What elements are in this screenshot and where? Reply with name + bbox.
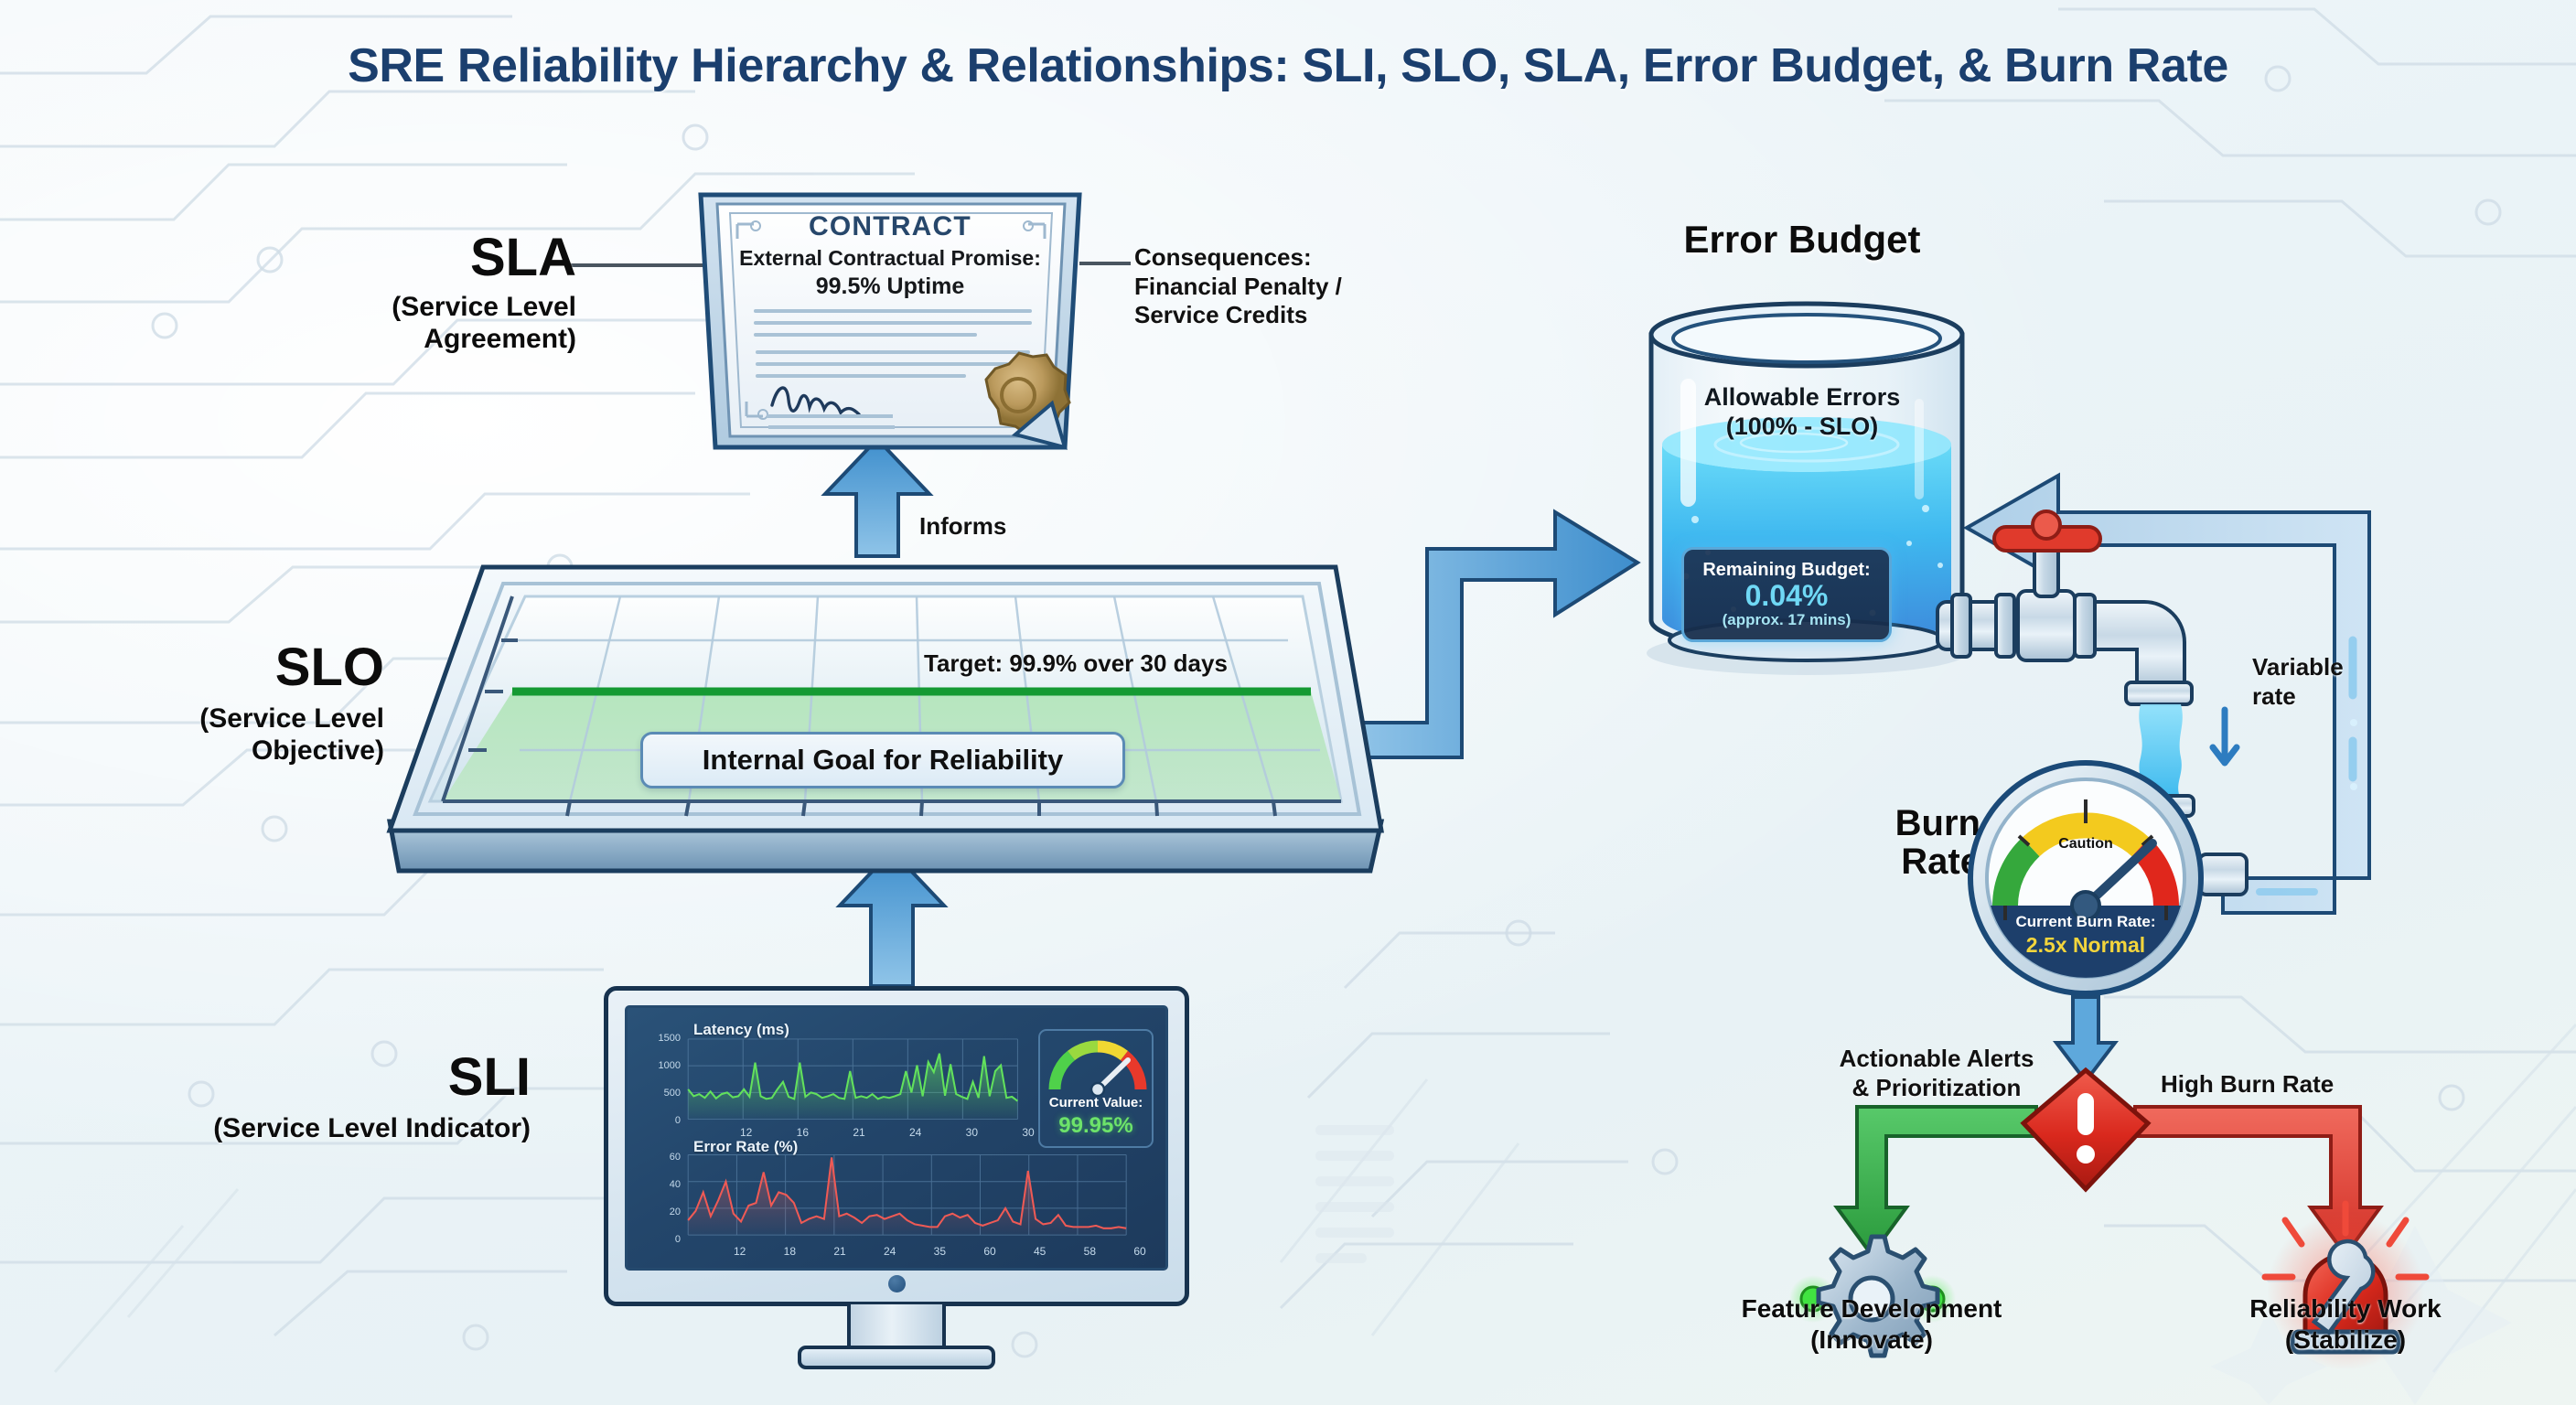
actionable-alerts-label: Actionable Alerts & Prioritization (1813, 1045, 2060, 1102)
monitor-neck (847, 1304, 946, 1350)
consequences-line3: Service Credits (1134, 301, 1409, 330)
x-tick: 18 (769, 1245, 810, 1258)
diagram-canvas: SRE Reliability Hierarchy & Relationship… (0, 0, 2576, 1405)
slo-expansion-line1: (Service Level (110, 702, 384, 735)
arrow-alert-to-feature-development (1837, 1107, 2036, 1255)
monitor-chin (608, 1265, 1185, 1302)
slo-goal-box: Internal Goal for Reliability (640, 732, 1125, 788)
x-tick: 24 (896, 1126, 936, 1139)
monitor-base (798, 1346, 995, 1369)
burn-rate-label: Burn Rate (1871, 805, 1980, 881)
slo-abbr: SLO (174, 640, 384, 694)
latency-chart-title: Latency (ms) (693, 1021, 789, 1039)
outcome-1-line2: (Stabilize) (2181, 1325, 2510, 1356)
slo-target-text: Target: 99.9% over 30 days (924, 649, 1228, 678)
variable-rate-line1: Variable (2252, 653, 2435, 682)
sla-abbr: SLA (421, 231, 576, 284)
x-tick: 30 (1008, 1126, 1048, 1139)
burn-rate-gauge: Caution Current Burn Rate: 2.5x Normal (1967, 759, 2205, 997)
y-tick: 0 (633, 1234, 681, 1245)
sli-monitor: Latency (ms) Error Rate (%) Current Valu… (604, 986, 1189, 1372)
slo-expansion: (Service Level Objective) (110, 702, 384, 767)
error-chart-title: Error Rate (%) (693, 1138, 798, 1156)
x-tick: 24 (870, 1245, 910, 1258)
actionable-alerts-line1: Actionable Alerts (1813, 1045, 2060, 1074)
x-tick: 21 (820, 1245, 860, 1258)
monitor-bezel: Latency (ms) Error Rate (%) Current Valu… (604, 986, 1189, 1306)
burn-rate-line2: Rate (1871, 843, 1980, 882)
arrow-burn-to-alert (2056, 997, 2115, 1081)
sla-expansion-line1: (Service Level (284, 291, 576, 323)
faucet-handle-icon (1994, 511, 2100, 551)
sla-label: SLA (421, 231, 576, 284)
contract-promise-value: 99.5% Uptime (704, 273, 1076, 300)
sli-expansion: (Service Level Indicator) (137, 1112, 531, 1144)
speedometer-icon (1040, 1036, 1155, 1100)
sli-gauge-caption: Current Value: (1040, 1095, 1152, 1110)
outcome-0-line2: (Innovate) (1698, 1325, 2045, 1356)
allowable-errors-line2: (100% - SLO) (1624, 412, 1980, 441)
sli-gauge-value: 99.95% (1040, 1113, 1152, 1139)
outcome-1-line1: Reliability Work (2181, 1293, 2510, 1325)
current-burn-rate-value: 2.5x Normal (1967, 933, 2205, 958)
allowable-errors-line1: Allowable Errors (1624, 382, 1980, 412)
burn-caution-label: Caution (1967, 836, 2205, 853)
outcome-reliability-work: Reliability Work (Stabilize) (2181, 1293, 2510, 1355)
y-tick: 0 (633, 1115, 681, 1126)
x-tick: 16 (782, 1126, 822, 1139)
sli-label: SLI (320, 1050, 531, 1104)
x-tick: 58 (1069, 1245, 1110, 1258)
high-burn-rate-label: High Burn Rate (2161, 1070, 2417, 1099)
contract-promise-label: External Contractual Promise: (704, 246, 1076, 271)
error-budget-heading: Error Budget (1624, 218, 1980, 262)
burn-rate-line1: Burn (1871, 805, 1980, 843)
consequences-annotation: Consequences: Financial Penalty / Servic… (1134, 243, 1409, 330)
outcome-0-line1: Feature Development (1698, 1293, 2045, 1325)
informs-label: Informs (919, 512, 1006, 542)
x-tick: 12 (726, 1126, 767, 1139)
slo-tablet (373, 556, 1398, 885)
sli-expansion-text: (Service Level Indicator) (137, 1112, 531, 1144)
contract-heading: CONTRACT (684, 211, 1096, 242)
arrow-alert-to-reliability-work (2135, 1107, 2380, 1255)
allowable-errors-label: Allowable Errors (100% - SLO) (1624, 382, 1980, 442)
y-tick: 1500 (633, 1033, 681, 1044)
y-tick: 500 (633, 1088, 681, 1099)
y-tick: 60 (633, 1152, 681, 1163)
current-burn-rate-label: Current Burn Rate: (1967, 913, 2205, 931)
y-tick: 40 (633, 1179, 681, 1190)
consequences-line1: Consequences: (1134, 243, 1409, 273)
variable-rate-line2: rate (2252, 682, 2435, 712)
sli-gauge-panel: Current Value: 99.95% (1038, 1029, 1154, 1148)
x-tick: 60 (1120, 1245, 1160, 1258)
x-tick: 45 (1020, 1245, 1060, 1258)
remaining-budget-approx: (approx. 17 mins) (1723, 611, 1851, 629)
x-tick: 60 (970, 1245, 1010, 1258)
sla-expansion: (Service Level Agreement) (284, 291, 576, 356)
sli-abbr: SLI (320, 1050, 531, 1104)
actionable-alerts-line2: & Prioritization (1813, 1074, 2060, 1103)
slo-label: SLO (174, 640, 384, 694)
x-tick: 21 (839, 1126, 879, 1139)
page-title: SRE Reliability Hierarchy & Relationship… (0, 38, 2576, 93)
remaining-budget-readout: Remaining Budget: 0.04% (approx. 17 mins… (1681, 547, 1892, 642)
variable-rate-annotation: Variable rate (2252, 653, 2435, 711)
slo-expansion-line2: Objective) (110, 735, 384, 767)
x-tick: 35 (919, 1245, 960, 1258)
x-tick: 12 (720, 1245, 760, 1258)
remaining-budget-value: 0.04% (1745, 581, 1829, 612)
contract-document: CONTRACT External Contractual Promise: 9… (684, 186, 1096, 460)
monitor-power-dot (888, 1275, 906, 1292)
outcome-feature-development: Feature Development (Innovate) (1698, 1293, 2045, 1355)
monitor-screen: Latency (ms) Error Rate (%) Current Valu… (625, 1005, 1168, 1271)
remaining-budget-label: Remaining Budget: (1702, 560, 1870, 581)
y-tick: 1000 (633, 1060, 681, 1071)
consequences-line2: Financial Penalty / (1134, 273, 1409, 302)
y-tick: 20 (633, 1207, 681, 1217)
sla-expansion-line2: Agreement) (284, 323, 576, 355)
x-tick: 30 (951, 1126, 992, 1139)
